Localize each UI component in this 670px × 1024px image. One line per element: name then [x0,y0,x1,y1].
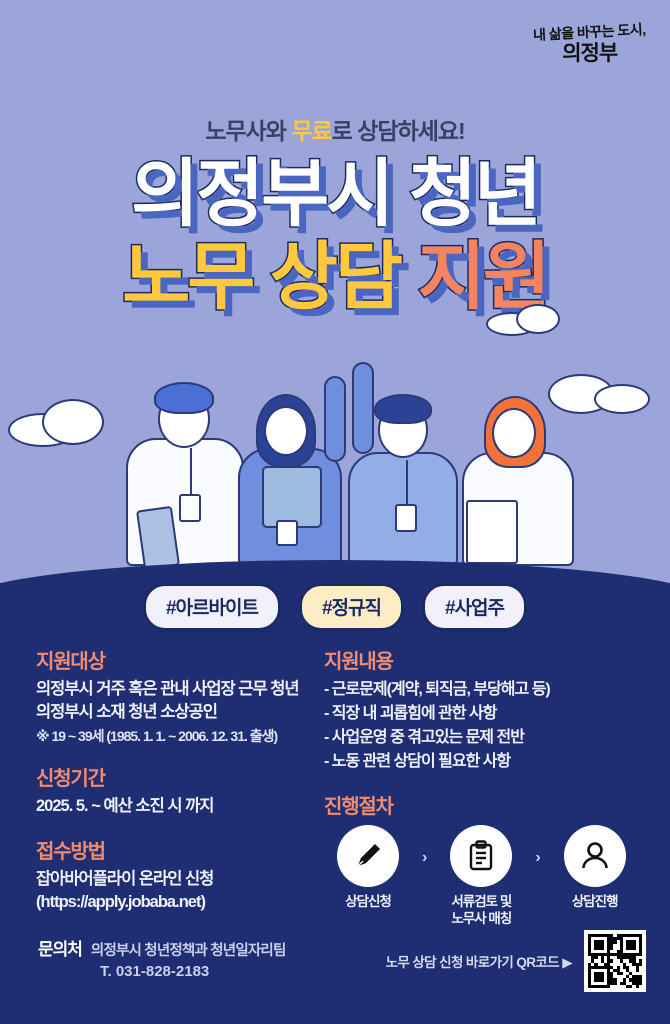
section-target: 지원대상 의정부시 거주 혹은 관내 사업장 근무 청년 의정부시 소재 청년 … [36,645,318,746]
tag-pill-part-time[interactable]: #아르바이트 [143,583,281,631]
tag-pill-employer[interactable]: #사업주 [422,583,527,631]
person-4-clipboard [466,500,518,564]
section-period-line-1: 2025. 5. ~ 예산 소진 시 까지 [36,795,318,818]
title-line-1: 의정부시 청년 [0,158,670,231]
process-steps: 상담신청 › 서류검토 및 [324,825,670,928]
person-3-badge [395,504,417,532]
section-target-line-1: 의정부시 거주 혹은 관내 사업장 근무 청년 [36,678,318,701]
section-process-heading: 진행절차 [324,790,670,819]
content-item: - 직장 내 괴롭힘에 관한 사항 [324,702,670,726]
person-2-face [264,406,308,456]
chevron-right-icon: › [422,849,427,867]
subtitle-part2: 로 상담하세요! [332,118,465,144]
clipboard-icon [450,825,512,887]
person-3-hair [374,394,432,424]
content-item: - 근로문제(계약, 퇴직금, 부당해고 등) [324,678,670,702]
cloud-icon [486,304,560,334]
section-target-line-2: 의정부시 소재 청년 소상공인 [36,701,318,724]
person-2-raised-arm [324,376,346,462]
section-apply-heading: 접수방법 [36,835,318,864]
person-3-pointing-arm [352,362,374,454]
person-1-badge [179,494,201,522]
title-text-white: 의정부시 청년 [131,152,539,235]
process-step-1: 상담신청 [324,825,412,911]
person-4-face [492,408,536,458]
poster-root: 내 삶을 바꾸는 도시, 의정부 노무사와 무료로 상담하세요! 의정부시 청년… [0,0,670,1024]
section-apply-line-1: 잡아바어플라이 온라인 신청 [36,868,318,891]
section-process: 진행절차 상담신청 › [324,790,670,928]
person-icon [564,825,626,887]
title-text-yellow: 노무 상담 [122,235,417,318]
chevron-right-icon: › [535,849,540,867]
subtitle-part1: 노무사와 [205,118,291,144]
contact-phone: T. 031-828-2183 [100,963,285,980]
right-column: 지원내용 - 근로문제(계약, 퇴직금, 부당해고 등) - 직장 내 괴롭힘에… [318,645,670,944]
process-step-2-label: 서류검토 및 노무사 매칭 [437,894,525,928]
section-apply: 접수방법 잡아바어플라이 온라인 신청 (https://apply.jobab… [36,835,318,915]
content-item: - 사업운영 중 겪고있는 문제 전반 [324,726,670,750]
process-step-3: 상담진행 [551,825,639,911]
person-2-tablet [262,466,322,528]
contact-department: 의정부시 청년정책과 청년일자리팀 [91,939,286,960]
section-content-heading: 지원내용 [324,645,670,674]
subtitle: 노무사와 무료로 상담하세요! [0,112,670,146]
contact-label: 문의처 [38,935,82,960]
city-logo: 내 삶을 바꾸는 도시, 의정부 [533,24,646,66]
section-target-heading: 지원대상 [36,645,318,674]
qr-code[interactable] [584,930,646,992]
qr-caption: 노무 상담 신청 바로가기 QR코드 ▶ [386,951,572,971]
person-3-lanyard [406,460,408,506]
footer-contact: 문의처 의정부시 청년정책과 청년일자리팀 T. 031-828-2183 [38,935,285,980]
left-column: 지원대상 의정부시 거주 혹은 관내 사업장 근무 청년 의정부시 소재 청년 … [0,645,318,944]
process-step-2: 서류검토 및 노무사 매칭 [437,825,525,928]
section-content: 지원내용 - 근로문제(계약, 퇴직금, 부당해고 등) - 직장 내 괴롭힘에… [324,645,670,774]
person-1-hair [154,382,214,414]
content-item: - 노동 관련 상담이 필요한 사항 [324,750,670,774]
section-period: 신청기간 2025. 5. ~ 예산 소진 시 까지 [36,762,318,818]
process-step-3-label: 상담진행 [551,894,639,911]
qr-section: 노무 상담 신청 바로가기 QR코드 ▶ [386,930,646,992]
section-apply-url[interactable]: (https://apply.jobaba.net) [36,891,318,914]
person-1-lanyard [190,448,192,496]
tag-pill-full-time[interactable]: #정규직 [299,583,404,631]
tag-pill-group: #아르바이트 #정규직 #사업주 [0,583,670,631]
section-target-note: ※ 19 ~ 39세 (1985. 1. 1. ~ 2006. 12. 31. … [36,726,318,746]
logo-city-name: 의정부 [533,42,646,66]
person-2-badge [276,520,298,546]
section-period-heading: 신청기간 [36,762,318,791]
main-title: 의정부시 청년 노무 상담 지원 [0,158,670,313]
info-columns: 지원대상 의정부시 거주 혹은 관내 사업장 근무 청년 의정부시 소재 청년 … [0,645,670,944]
pen-icon [337,825,399,887]
title-line-2: 노무 상담 지원 [0,241,670,314]
logo-slogan: 내 삶을 바꾸는 도시, [533,21,646,43]
subtitle-highlight: 무료 [291,118,331,144]
process-step-1-label: 상담신청 [324,894,412,911]
